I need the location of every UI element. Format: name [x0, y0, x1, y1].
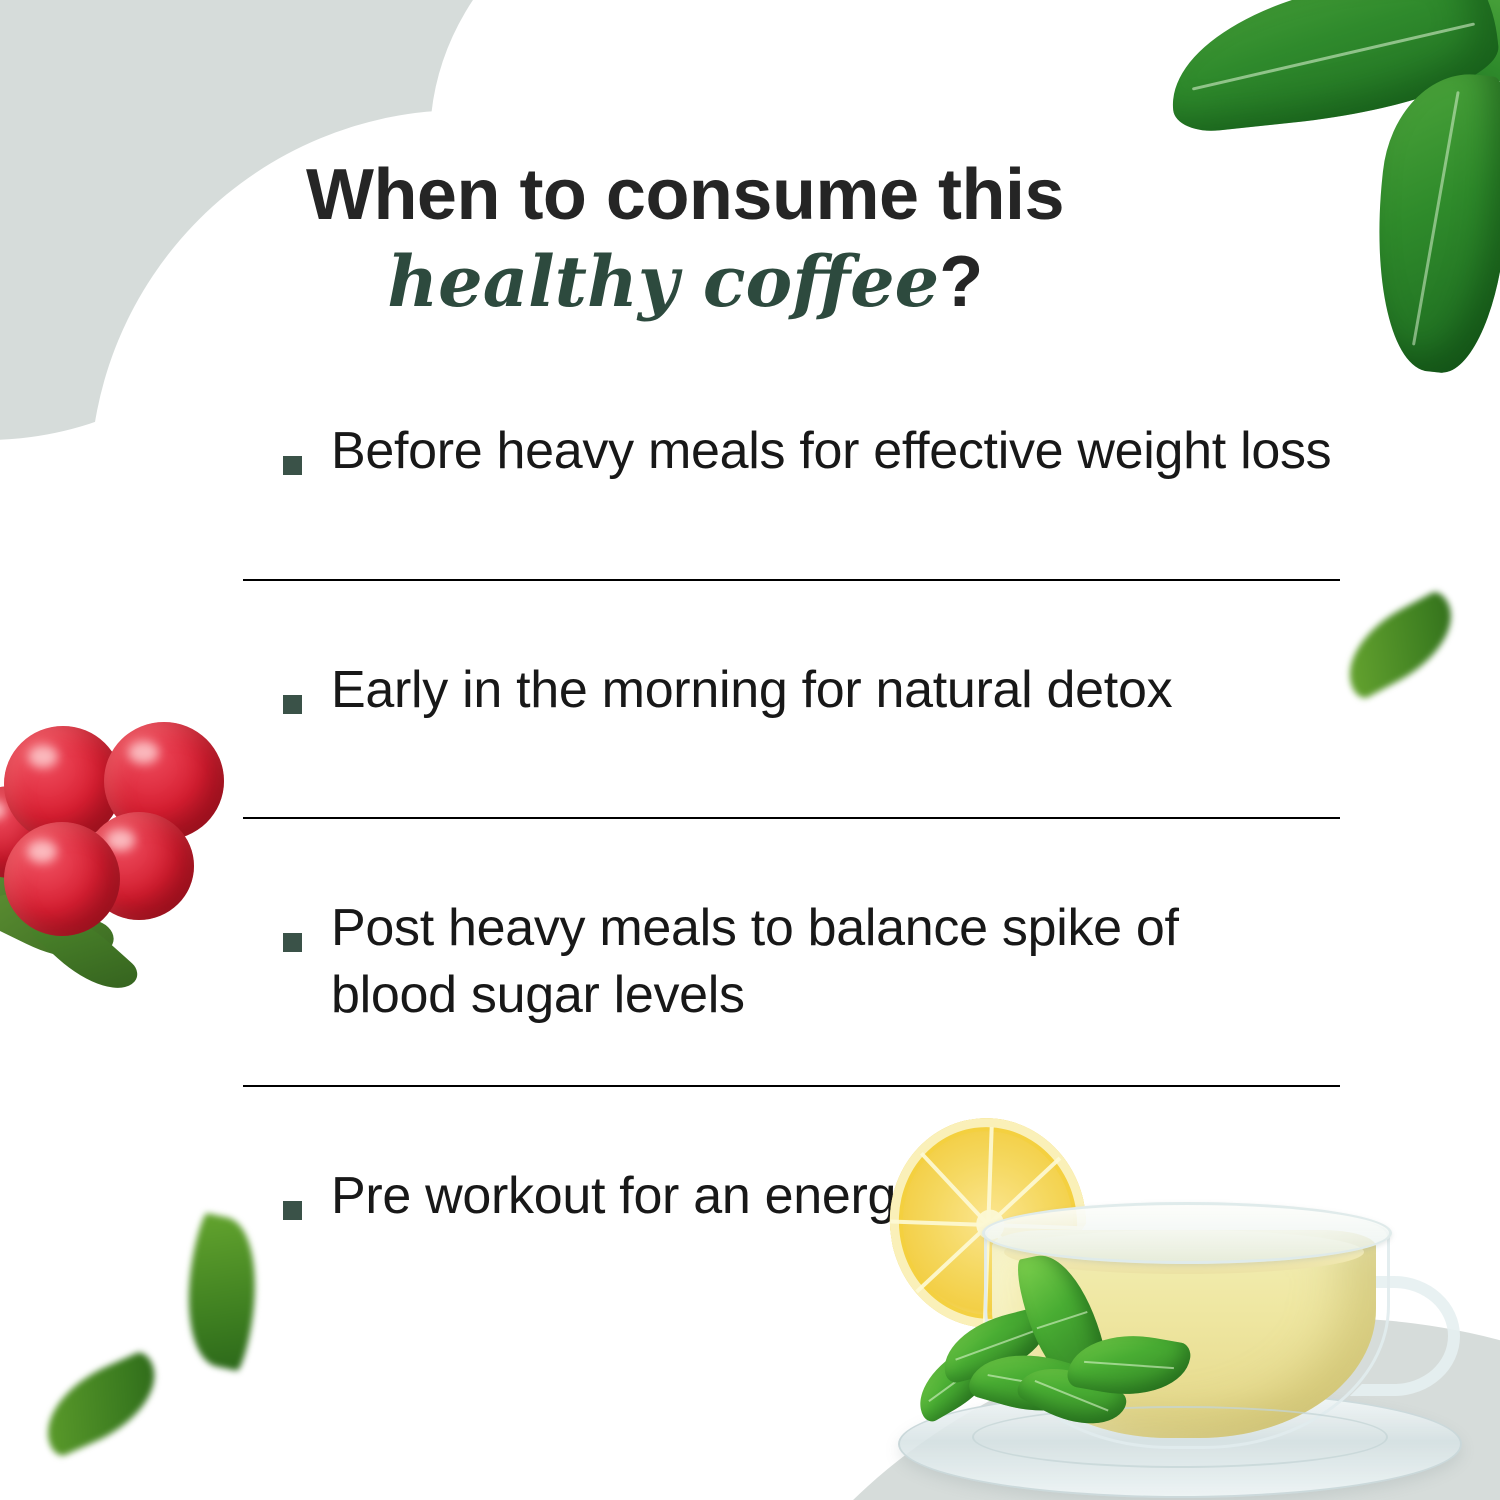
- square-bullet-icon: [283, 695, 302, 714]
- page-title-line-1: When to consume this: [0, 158, 1370, 233]
- floating-leaf-icon: [171, 1212, 272, 1372]
- spacer: [243, 819, 1343, 895]
- coffee-cherry-icon: [4, 822, 120, 936]
- spacer: [243, 581, 1343, 657]
- poster-canvas: When to consume this healthy coffee? Bef…: [0, 0, 1500, 1500]
- page-title: When to consume this healthy coffee?: [0, 158, 1370, 320]
- square-bullet-icon: [283, 933, 302, 952]
- square-bullet-icon: [283, 456, 302, 475]
- leaf-vein: [1192, 22, 1476, 90]
- page-title-accent: healthy coffee: [387, 240, 939, 323]
- saucer-inner-ring: [972, 1406, 1388, 1468]
- list-item: Post heavy meals to balance spike of blo…: [243, 895, 1343, 1028]
- list-item-label: Before heavy meals for effective weight …: [331, 422, 1331, 480]
- list-item-label: Early in the morning for natural detox: [331, 661, 1172, 719]
- list-item: Early in the morning for natural detox: [243, 657, 1343, 724]
- glass-cup-rim-icon: [982, 1202, 1392, 1264]
- floating-leaf-icon: [1331, 589, 1470, 702]
- spacer: [243, 723, 1343, 817]
- list-item-label: Post heavy meals to balance spike of blo…: [331, 899, 1179, 1024]
- square-bullet-icon: [283, 1201, 302, 1220]
- floating-leaf-icon: [30, 1349, 171, 1459]
- list-item: Before heavy meals for effective weight …: [243, 418, 1343, 485]
- glass-teacup-with-lemon-and-mint-icon: [880, 1118, 1500, 1500]
- leaf-vein: [1412, 91, 1460, 346]
- coffee-leaf-vertical-icon: [1363, 66, 1500, 378]
- spacer: [243, 485, 1343, 579]
- spacer: [243, 1028, 1343, 1085]
- page-title-line-2: healthy coffee?: [0, 245, 1370, 320]
- page-title-question-mark: ?: [939, 242, 982, 322]
- benefits-list: Before heavy meals for effective weight …: [243, 418, 1343, 1230]
